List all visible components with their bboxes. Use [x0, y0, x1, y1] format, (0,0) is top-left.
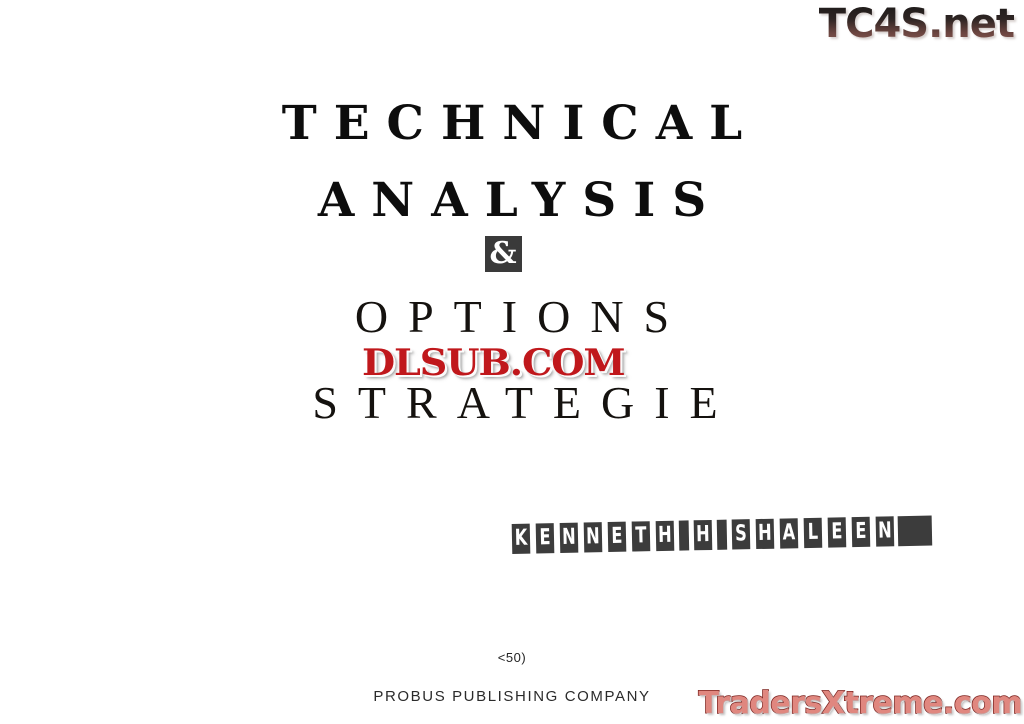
ampersand-wrapper: & [0, 236, 1024, 272]
author-tile: N [584, 522, 603, 552]
author-tile: K [512, 524, 531, 554]
book-cover-scan: TC4S.net TC4S.net TECHNICAL ANALYSIS & O… [0, 0, 1024, 724]
dlsub-watermark: DLSUB.COM [362, 342, 625, 384]
title-line-technical: TECHNICAL [0, 100, 1024, 147]
author-tile-blank [898, 516, 933, 547]
title-line-strategie: STRATEGIE [6, 380, 1024, 426]
title-line-analysis: ANALYSIS [0, 177, 1024, 224]
author-tile: S [732, 519, 751, 549]
author-tile-space [717, 520, 727, 550]
author-tile: H [694, 520, 713, 550]
author-tile: H [656, 521, 675, 551]
author-tile: L [804, 518, 823, 548]
author-tile: T [632, 521, 651, 551]
author-tile: A [780, 518, 799, 548]
author-tile-space [679, 520, 689, 550]
author-tile: H [756, 519, 775, 549]
catalog-code-mark: <50) [0, 650, 1024, 665]
author-name-band: K E N N E T H H S H A L E E N [510, 516, 933, 554]
author-tile: E [828, 517, 847, 547]
author-tile: E [536, 523, 555, 553]
ampersand-box: & [485, 236, 522, 272]
author-tile: N [560, 523, 579, 553]
title-line-options: OPTIONS [0, 294, 1024, 340]
author-tile: E [608, 522, 627, 552]
author-tile: N [876, 516, 895, 546]
tc4s-site-logo: TC4S.net [819, 4, 1014, 44]
tradersxtreme-watermark: TradersXtreme.com [699, 686, 1022, 721]
author-tile: E [852, 517, 871, 547]
